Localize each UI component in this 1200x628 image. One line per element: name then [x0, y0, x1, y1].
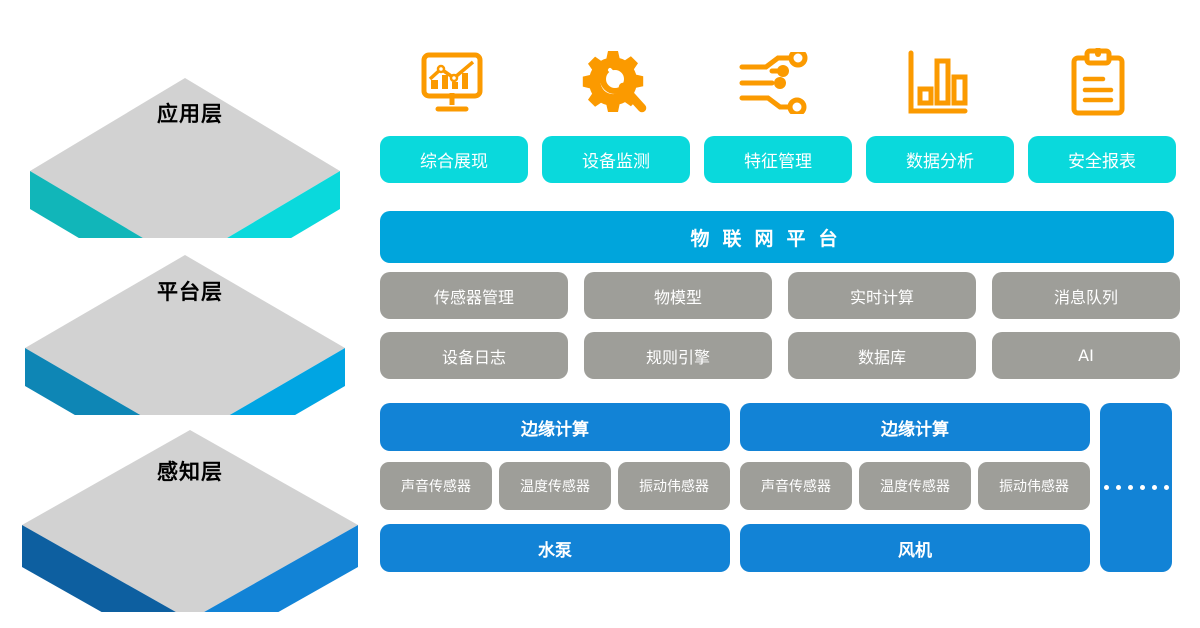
- icon-cell-data-analysis: [863, 44, 1011, 122]
- sensor-box-sound-1[interactable]: 声音传感器: [380, 462, 492, 510]
- sensor-label: 温度传感器: [880, 476, 950, 496]
- app-button-label: 设备监测: [582, 147, 650, 172]
- device-box-fan[interactable]: 风机: [740, 524, 1090, 572]
- platform-component-thing-model[interactable]: 物模型: [584, 272, 772, 319]
- app-button-label: 数据分析: [906, 147, 974, 172]
- app-button-comprehensive-display[interactable]: 综合展现: [380, 136, 528, 183]
- platform-component-label: 设备日志: [442, 344, 506, 368]
- architecture-panel: 综合展现 设备监测 特征管理 数据分析 安全报表 物联网平台 传感器管理 物模型…: [378, 0, 1174, 628]
- gear-wrench-icon: [577, 48, 649, 118]
- sensor-box-vibration-2[interactable]: 振动伟感器: [978, 462, 1090, 510]
- app-button-label: 综合展现: [420, 147, 488, 172]
- ellipsis-dots-icon: [1104, 485, 1169, 490]
- app-button-data-analysis[interactable]: 数据分析: [866, 136, 1014, 183]
- sensor-label: 振动伟感器: [639, 476, 709, 496]
- platform-component-device-log[interactable]: 设备日志: [380, 332, 568, 379]
- edge-computing-label: 边缘计算: [521, 415, 589, 440]
- platform-component-ai[interactable]: AI: [992, 332, 1180, 379]
- monitor-chart-icon: [416, 49, 488, 117]
- slab-perception-layer: 感知层: [0, 412, 380, 622]
- application-icon-row: [378, 44, 1172, 122]
- sensor-box-temperature-2[interactable]: 温度传感器: [859, 462, 971, 510]
- platform-component-label: AI: [1078, 346, 1094, 365]
- layer-stack: 应用层 平台层 感知层: [0, 0, 380, 628]
- clipboard-icon: [1069, 48, 1127, 118]
- sensor-box-vibration-1[interactable]: 振动伟感器: [618, 462, 730, 510]
- device-label: 水泵: [538, 536, 572, 561]
- platform-component-rule-engine[interactable]: 规则引擎: [584, 332, 772, 379]
- platform-component-label: 消息队列: [1054, 284, 1118, 308]
- icon-cell-feature-management: [701, 44, 849, 122]
- platform-component-label: 规则引擎: [646, 344, 710, 368]
- iot-platform-banner: 物联网平台: [380, 211, 1174, 263]
- icon-cell-security-report: [1024, 44, 1172, 122]
- sensor-box-sound-2[interactable]: 声音传感器: [740, 462, 852, 510]
- app-button-label: 安全报表: [1068, 147, 1136, 172]
- more-groups-box[interactable]: [1100, 403, 1172, 572]
- app-button-device-monitoring[interactable]: 设备监测: [542, 136, 690, 183]
- sensor-box-temperature-1[interactable]: 温度传感器: [499, 462, 611, 510]
- platform-component-message-queue[interactable]: 消息队列: [992, 272, 1180, 319]
- iot-platform-banner-label: 物联网平台: [677, 224, 850, 251]
- sensor-label: 声音传感器: [761, 476, 831, 496]
- device-box-water-pump[interactable]: 水泵: [380, 524, 730, 572]
- platform-component-label: 数据库: [858, 344, 906, 368]
- icon-cell-device-monitoring: [540, 44, 688, 122]
- platform-component-label: 传感器管理: [434, 284, 514, 308]
- edge-computing-label: 边缘计算: [881, 415, 949, 440]
- platform-component-realtime-compute[interactable]: 实时计算: [788, 272, 976, 319]
- app-button-label: 特征管理: [744, 147, 812, 172]
- sensor-label: 振动伟感器: [999, 476, 1069, 496]
- edge-computing-box-2[interactable]: 边缘计算: [740, 403, 1090, 451]
- app-button-feature-management[interactable]: 特征管理: [704, 136, 852, 183]
- platform-component-database[interactable]: 数据库: [788, 332, 976, 379]
- edge-computing-box-1[interactable]: 边缘计算: [380, 403, 730, 451]
- platform-component-sensor-management[interactable]: 传感器管理: [380, 272, 568, 319]
- platform-component-label: 物模型: [654, 284, 702, 308]
- icon-cell-comprehensive-display: [378, 44, 526, 122]
- sensor-label: 声音传感器: [401, 476, 471, 496]
- platform-component-label: 实时计算: [850, 284, 914, 308]
- app-button-security-report[interactable]: 安全报表: [1028, 136, 1176, 183]
- circuit-nodes-icon: [738, 52, 812, 114]
- bar-chart-icon: [905, 49, 969, 117]
- sensor-label: 温度传感器: [520, 476, 590, 496]
- device-label: 风机: [898, 536, 932, 561]
